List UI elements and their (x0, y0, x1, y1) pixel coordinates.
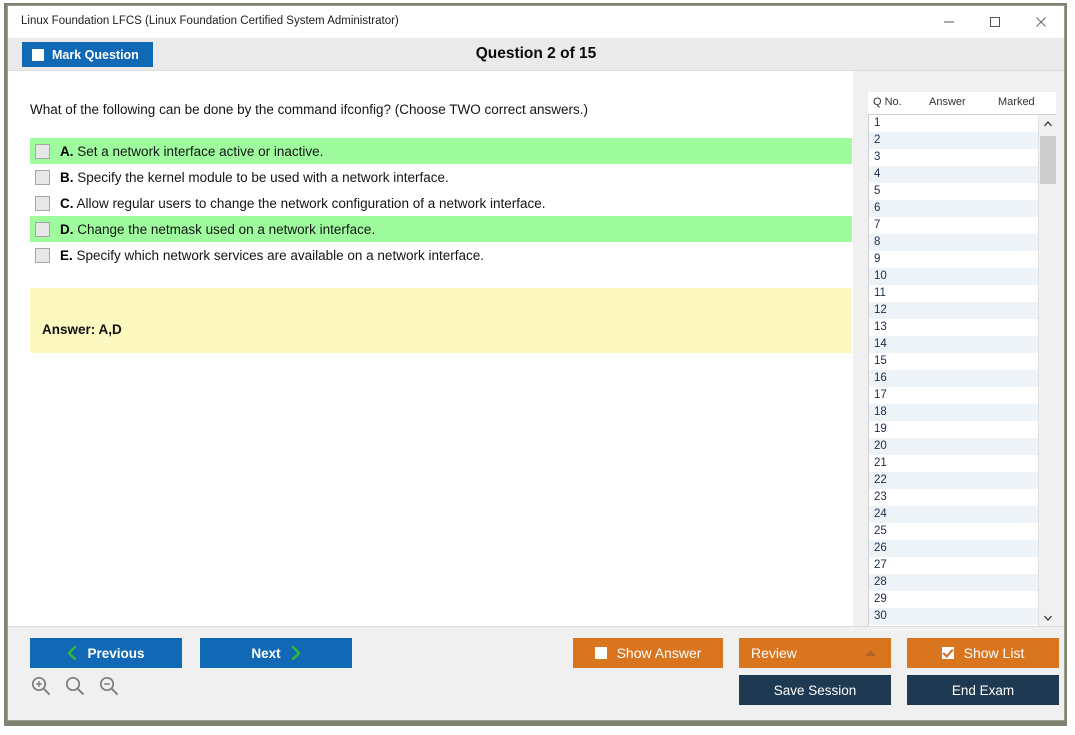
option-body: Set a network interface active or inacti… (77, 144, 323, 159)
zoom-reset-icon[interactable] (64, 675, 86, 697)
option-body: Specify which network services are avail… (77, 248, 484, 263)
question-list-row[interactable]: 11 (869, 285, 1038, 302)
question-list-row[interactable]: 5 (869, 183, 1038, 200)
row-question-number: 2 (874, 134, 880, 146)
answer-option-b[interactable]: B. Specify the kernel module to be used … (30, 164, 852, 190)
option-letter: A. (60, 144, 74, 159)
row-question-number: 5 (874, 185, 880, 197)
row-question-number: 23 (874, 491, 887, 503)
question-list-scrollbar[interactable] (1038, 115, 1056, 626)
question-list-row[interactable]: 2 (869, 132, 1038, 149)
chevron-down-icon (1043, 615, 1052, 621)
option-letter: B. (60, 170, 74, 185)
row-question-number: 28 (874, 576, 887, 588)
row-question-number: 12 (874, 304, 887, 316)
question-list-row[interactable]: 27 (869, 557, 1038, 574)
save-session-button[interactable]: Save Session (739, 675, 891, 705)
question-list-row[interactable]: 13 (869, 319, 1038, 336)
review-dropdown-button[interactable]: Review (739, 638, 891, 668)
question-list-row[interactable]: 7 (869, 217, 1038, 234)
mark-question-button[interactable]: Mark Question (22, 42, 153, 67)
question-list-row[interactable]: 29 (869, 591, 1038, 608)
row-question-number: 29 (874, 593, 887, 605)
show-list-label: Show List (964, 645, 1025, 661)
answer-options-list: A. Set a network interface active or ina… (30, 138, 852, 268)
row-question-number: 20 (874, 440, 887, 452)
previous-label: Previous (87, 646, 144, 661)
option-checkbox[interactable] (35, 222, 50, 237)
question-list-row[interactable]: 15 (869, 353, 1038, 370)
column-header-answer: Answer (929, 96, 966, 108)
scrollbar-thumb[interactable] (1040, 136, 1056, 184)
row-question-number: 6 (874, 202, 880, 214)
row-question-number: 25 (874, 525, 887, 537)
row-question-number: 22 (874, 474, 887, 486)
show-answer-checkbox[interactable] (595, 647, 607, 659)
row-question-number: 18 (874, 406, 887, 418)
option-checkbox[interactable] (35, 196, 50, 211)
scroll-up-button[interactable] (1039, 115, 1056, 132)
row-question-number: 14 (874, 338, 887, 350)
column-header-qno: Q No. (873, 96, 902, 108)
question-list-row[interactable]: 22 (869, 472, 1038, 489)
row-question-number: 17 (874, 389, 887, 401)
maximize-icon (989, 16, 1001, 28)
row-question-number: 24 (874, 508, 887, 520)
scroll-down-button[interactable] (1039, 609, 1056, 626)
option-checkbox[interactable] (35, 248, 50, 263)
answer-option-a[interactable]: A. Set a network interface active or ina… (30, 138, 852, 164)
window-title: Linux Foundation LFCS (Linux Foundation … (21, 15, 399, 27)
review-label: Review (751, 645, 797, 661)
row-question-number: 16 (874, 372, 887, 384)
row-question-number: 7 (874, 219, 880, 231)
previous-button[interactable]: Previous (30, 638, 182, 668)
caret-up-icon (864, 649, 877, 657)
row-question-number: 15 (874, 355, 887, 367)
question-list-row[interactable]: 10 (869, 268, 1038, 285)
mark-question-label: Mark Question (52, 48, 139, 62)
window-titlebar: Linux Foundation LFCS (Linux Foundation … (8, 6, 1064, 38)
option-text: B. Specify the kernel module to be used … (60, 170, 449, 185)
option-letter: D. (60, 222, 74, 237)
option-body: Allow regular users to change the networ… (77, 196, 546, 211)
question-counter: Question 2 of 15 (8, 38, 1064, 70)
question-list-row[interactable]: 3 (869, 149, 1038, 166)
row-question-number: 9 (874, 253, 880, 265)
close-icon (1035, 16, 1047, 28)
next-label: Next (251, 646, 280, 661)
show-list-button[interactable]: Show List (907, 638, 1059, 668)
minimize-icon (943, 16, 955, 28)
chevron-up-icon (1043, 121, 1052, 127)
option-text: E. Specify which network services are av… (60, 248, 484, 263)
show-list-checkbox[interactable] (942, 647, 954, 659)
zoom-controls (30, 675, 120, 697)
question-list-row[interactable]: 24 (869, 506, 1038, 523)
question-list-row[interactable]: 28 (869, 574, 1038, 591)
question-list-row[interactable]: 23 (869, 489, 1038, 506)
question-list-row[interactable]: 9 (869, 251, 1038, 268)
end-exam-label: End Exam (952, 683, 1014, 698)
question-list-row[interactable]: 17 (869, 387, 1038, 404)
row-question-number: 13 (874, 321, 887, 333)
answer-option-e[interactable]: E. Specify which network services are av… (30, 242, 852, 268)
question-list-row[interactable]: 8 (869, 234, 1038, 251)
option-text: C. Allow regular users to change the net… (60, 196, 546, 211)
question-list-row[interactable]: 21 (869, 455, 1038, 472)
row-question-number: 11 (874, 287, 886, 299)
footer-toolbar: Previous Next (8, 626, 1064, 720)
question-list-row[interactable]: 18 (869, 404, 1038, 421)
question-stem: What of the following can be done by the… (30, 101, 830, 119)
row-question-number: 8 (874, 236, 880, 248)
question-list-row[interactable]: 6 (869, 200, 1038, 217)
row-question-number: 21 (874, 457, 887, 469)
row-question-number: 19 (874, 423, 887, 435)
question-list-row[interactable]: 30 (869, 608, 1038, 625)
option-body: Specify the kernel module to be used wit… (77, 170, 448, 185)
option-letter: E. (60, 248, 73, 263)
close-button[interactable] (1018, 6, 1064, 37)
question-list-row[interactable]: 20 (869, 438, 1038, 455)
option-body: Change the netmask used on a network int… (77, 222, 375, 237)
row-question-number: 10 (874, 270, 887, 282)
maximize-button[interactable] (972, 6, 1018, 37)
question-list-row[interactable]: 26 (869, 540, 1038, 557)
answer-reveal-box: Answer: A,D (30, 288, 852, 353)
answer-option-d[interactable]: D. Change the netmask used on a network … (30, 216, 852, 242)
answer-reveal-text: Answer: A,D (42, 322, 122, 337)
question-toolbar: Question 2 of 15 Mark Question (8, 38, 1064, 71)
question-content-pane: What of the following can be done by the… (8, 71, 853, 626)
option-checkbox[interactable] (35, 144, 50, 159)
show-answer-label: Show Answer (617, 645, 702, 661)
mark-question-checkbox[interactable] (32, 49, 44, 61)
chevron-left-icon (67, 646, 78, 660)
question-list-row[interactable]: 25 (869, 523, 1038, 540)
zoom-in-icon[interactable] (30, 675, 52, 697)
question-list-panel: Q No. Answer Marked 12345678910111213141… (868, 92, 1056, 626)
show-answer-button[interactable]: Show Answer (573, 638, 723, 668)
column-header-marked: Marked (998, 96, 1035, 108)
option-letter: C. (60, 196, 74, 211)
question-list-row[interactable]: 4 (869, 166, 1038, 183)
option-text: D. Change the netmask used on a network … (60, 222, 375, 237)
minimize-button[interactable] (926, 6, 972, 37)
question-list-row[interactable]: 1 (869, 115, 1038, 132)
question-list-row[interactable]: 19 (869, 421, 1038, 438)
question-list-row[interactable]: 16 (869, 370, 1038, 387)
question-list-row[interactable]: 14 (869, 336, 1038, 353)
chevron-right-icon (290, 646, 301, 660)
row-question-number: 4 (874, 168, 880, 180)
row-question-number: 1 (874, 117, 880, 129)
question-list-header: Q No. Answer Marked (868, 92, 1056, 115)
option-checkbox[interactable] (35, 170, 50, 185)
option-text: A. Set a network interface active or ina… (60, 144, 323, 159)
zoom-out-icon[interactable] (98, 675, 120, 697)
row-question-number: 27 (874, 559, 887, 571)
save-session-label: Save Session (774, 683, 857, 698)
end-exam-button[interactable]: End Exam (907, 675, 1059, 705)
question-list-rows[interactable]: 1234567891011121314151617181920212223242… (868, 115, 1038, 626)
row-question-number: 26 (874, 542, 887, 554)
question-list-row[interactable]: 12 (869, 302, 1038, 319)
exam-application-window: Linux Foundation LFCS (Linux Foundation … (7, 5, 1065, 721)
row-question-number: 3 (874, 151, 880, 163)
next-button[interactable]: Next (200, 638, 352, 668)
row-question-number: 30 (874, 610, 887, 622)
answer-option-c[interactable]: C. Allow regular users to change the net… (30, 190, 852, 216)
desktop-background: Linux Foundation LFCS (Linux Foundation … (0, 0, 1075, 735)
